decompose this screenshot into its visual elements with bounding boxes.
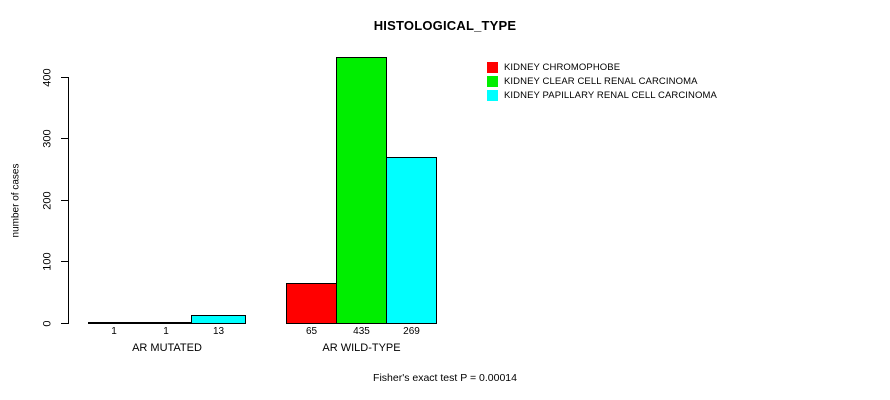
bar-value-label: 13 bbox=[191, 326, 246, 338]
y-tick-0 bbox=[61, 323, 68, 324]
bar-ar-wild-type-chromophobe bbox=[286, 283, 337, 324]
legend-swatch-icon bbox=[487, 90, 498, 101]
y-tick-label-0: 0 bbox=[43, 307, 54, 341]
bar-ar-wild-type-papillary bbox=[386, 157, 437, 324]
chart-canvas: HISTOLOGICAL_TYPE 0 100 200 300 400 numb… bbox=[0, 0, 890, 400]
bar-ar-mutated-papillary bbox=[191, 315, 246, 324]
bar-ar-wild-type-clear-cell bbox=[336, 57, 387, 324]
y-tick-label-100: 100 bbox=[43, 245, 54, 279]
y-tick-400 bbox=[61, 77, 68, 78]
legend-swatch-icon bbox=[487, 76, 498, 87]
bar-value-label: 435 bbox=[336, 326, 387, 338]
bar-ar-mutated-clear-cell bbox=[140, 322, 192, 323]
bar-value-label: 65 bbox=[286, 326, 337, 338]
y-axis-line bbox=[68, 77, 69, 324]
bar-ar-mutated-chromophobe bbox=[88, 322, 140, 323]
statistical-test-annotation: Fisher's exact test P = 0.00014 bbox=[0, 372, 890, 384]
y-axis-title: number of cases bbox=[11, 141, 22, 261]
y-tick-100 bbox=[61, 261, 68, 262]
plot-area: 0 100 200 300 400 number of cases 1 1 13… bbox=[0, 0, 470, 400]
y-tick-200 bbox=[61, 200, 68, 201]
y-tick-label-200: 200 bbox=[43, 184, 54, 218]
bar-value-label: 1 bbox=[88, 326, 140, 338]
y-tick-300 bbox=[61, 138, 68, 139]
legend-swatch-icon bbox=[487, 62, 498, 73]
legend-item-label: KIDNEY CHROMOPHOBE bbox=[504, 61, 620, 74]
y-tick-label-300: 300 bbox=[43, 122, 54, 156]
legend-item-label: KIDNEY CLEAR CELL RENAL CARCINOMA bbox=[504, 75, 698, 88]
legend-item-label: KIDNEY PAPILLARY RENAL CELL CARCINOMA bbox=[504, 89, 717, 102]
bar-value-label: 269 bbox=[386, 326, 437, 338]
y-tick-label-400: 400 bbox=[43, 61, 54, 95]
bar-value-label: 1 bbox=[140, 326, 192, 338]
group-label-ar-wild-type: AR WILD-TYPE bbox=[286, 342, 437, 355]
group-label-ar-mutated: AR MUTATED bbox=[88, 342, 246, 355]
